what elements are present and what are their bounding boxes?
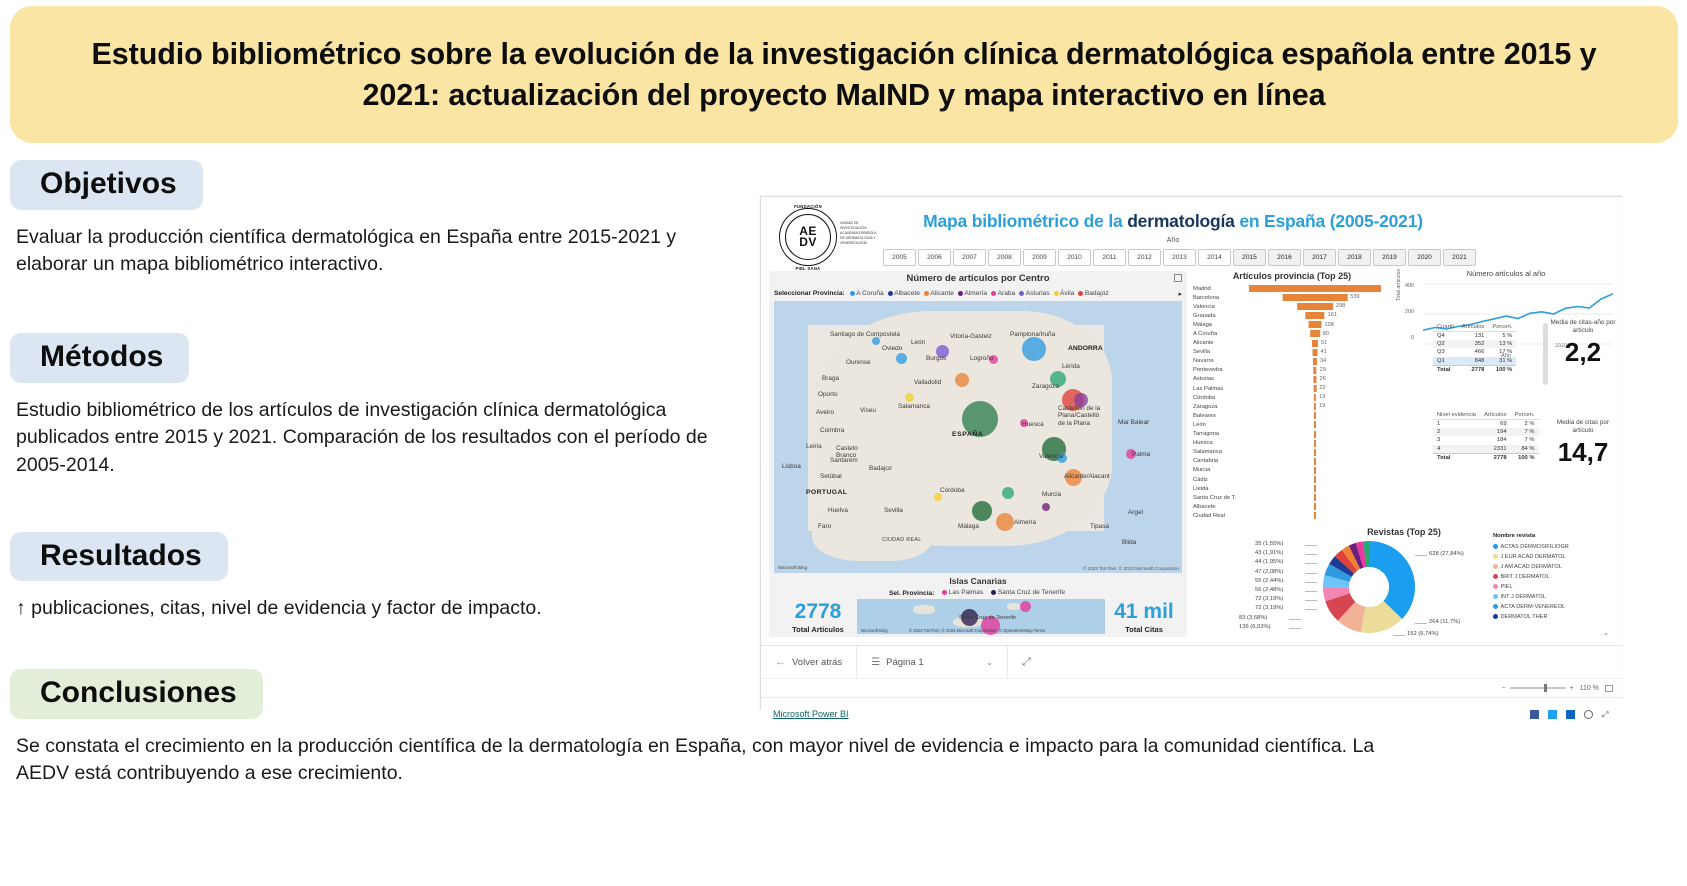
logo-circle-icon: AE DV — [779, 208, 837, 266]
province-bar-value: 19 — [1319, 403, 1325, 409]
line-chart-ylabel: Total artículos — [1396, 269, 1402, 301]
year-button-2007[interactable]: 2007 — [953, 249, 986, 266]
map-city-label: Blida — [1122, 539, 1136, 546]
province-bar[interactable] — [1314, 494, 1316, 501]
canarias-legend[interactable]: Sel. Provincia: Las PalmasSanta Cruz de … — [769, 589, 1187, 597]
province-bar[interactable] — [1283, 294, 1348, 301]
evidence-table-cell: 69 — [1480, 420, 1511, 429]
province-bar[interactable] — [1314, 403, 1316, 410]
year-button-2016[interactable]: 2016 — [1268, 249, 1301, 266]
spain-map[interactable]: Santiago de Compostela Oviedo León Vitor… — [774, 301, 1182, 573]
province-bar-row[interactable]: Asturias26 — [1193, 375, 1391, 384]
quartile-table-row[interactable]: Q235213 % — [1433, 340, 1516, 348]
evidence-table-cell: 4 — [1433, 445, 1480, 454]
province-bar[interactable] — [1314, 394, 1316, 401]
donut-slice-label: 47 (2,08%) — [1255, 569, 1283, 575]
zoom-out-icon[interactable]: − — [1501, 685, 1505, 692]
evidence-table[interactable]: Nivel evidenciaArtículosPorcen. 1692 %21… — [1433, 411, 1545, 462]
map-bubble[interactable] — [934, 493, 942, 501]
year-button-2005[interactable]: 2005 — [883, 249, 916, 266]
kpi-media-citas-year: Media de citas-año por artículo 2,2 — [1547, 319, 1619, 365]
fullscreen-button[interactable]: ⤢ — [1008, 646, 1045, 679]
province-bar-value: 108 — [1324, 322, 1333, 328]
province-bar[interactable] — [1314, 449, 1316, 456]
quartile-table-cell: 5 % — [1488, 332, 1516, 341]
report-title-part2: en España (2005-2021) — [1235, 211, 1423, 231]
canarias-copyright: © 2023 TomTom, © 2023 Microsoft Corporat… — [909, 628, 1045, 633]
map-city-label: Almería — [1014, 519, 1036, 526]
donut-slice-label: 72 (3,19%) — [1255, 605, 1283, 611]
evidence-table-cell: 2331 — [1480, 445, 1511, 454]
quartile-table-header-cell: Porcen. — [1488, 323, 1516, 332]
zoom-in-icon[interactable]: + — [1570, 685, 1574, 692]
province-bar-row[interactable]: Madrid — [1193, 284, 1391, 293]
province-legend-label: Seleccionar Provincia: — [774, 290, 845, 297]
back-button[interactable]: ← Volver atrás — [761, 646, 856, 679]
donut-leader-line — [1289, 619, 1301, 620]
map-city-label: Salamanca — [898, 403, 930, 410]
map-panel: Número de artículos por Centro Seleccion… — [769, 271, 1187, 637]
province-bar-value: 22 — [1319, 385, 1325, 391]
journals-donut-chart[interactable]: Revistas (Top 25) 35 (1,55%)43 (1,91%)44… — [1193, 527, 1615, 639]
province-bar-label: Valencia — [1193, 304, 1239, 310]
province-bar-row[interactable]: Córdoba19 — [1193, 393, 1391, 402]
province-bar[interactable] — [1314, 421, 1316, 428]
province-bar[interactable] — [1313, 358, 1317, 365]
evidence-table-row[interactable]: 4233184 % — [1433, 445, 1539, 454]
map-bubble[interactable] — [905, 393, 914, 402]
page-selector-label: Página 1 — [886, 657, 924, 668]
donut-leader-line — [1393, 635, 1405, 636]
province-bar-row[interactable]: Lleida — [1193, 484, 1391, 493]
province-bar-row[interactable]: Barcelona539 — [1193, 293, 1391, 302]
poster-page: Estudio bibliométrico sobre la evolución… — [0, 0, 1687, 886]
year-button-2011[interactable]: 2011 — [1093, 249, 1126, 266]
province-bar[interactable] — [1314, 431, 1316, 438]
map-copyright: © 2023 TomTom, © 2023 Microsoft Corporat… — [1083, 566, 1179, 571]
province-bar-value: 29 — [1320, 367, 1326, 373]
canarias-bubble[interactable] — [1020, 601, 1031, 612]
year-button-2008[interactable]: 2008 — [988, 249, 1021, 266]
quartile-table-total-cell: 100 % — [1488, 365, 1516, 374]
journal-legend-item[interactable]: BRIT J DERMATOL — [1493, 572, 1615, 582]
province-bar-label: León — [1193, 422, 1239, 428]
map-city-label: Burgos — [926, 355, 946, 362]
legend-item-badajoz[interactable]: Badajoz — [1078, 290, 1108, 297]
map-city-label: Logroño — [970, 355, 993, 362]
province-bar[interactable] — [1312, 340, 1318, 347]
province-bar-label: Huesca — [1193, 440, 1239, 446]
year-button-2009[interactable]: 2009 — [1023, 249, 1056, 266]
donut-slice-label: 44 (1,95%) — [1255, 559, 1283, 565]
canarias-map[interactable]: Santa Cruz de Tenerife Microsoft Bing © … — [857, 599, 1105, 634]
powerbi-brand-link[interactable]: Microsoft Power BI — [773, 709, 849, 719]
province-bar[interactable] — [1313, 349, 1318, 356]
legend-item-label: Ávila — [1060, 290, 1074, 297]
year-button-2018[interactable]: 2018 — [1338, 249, 1371, 266]
left-column: Objetivos Evaluar la producción científi… — [0, 160, 762, 794]
journal-legend-item[interactable]: PIEL — [1493, 582, 1615, 592]
province-legend[interactable]: Seleccionar Provincia: A CoruñaAlbaceteA… — [774, 288, 1182, 299]
year-button-2013[interactable]: 2013 — [1163, 249, 1196, 266]
legend-color-dot — [1493, 614, 1498, 619]
province-bar-row[interactable]: León — [1193, 420, 1391, 429]
donut-leader-line — [1305, 573, 1317, 574]
province-bar[interactable] — [1314, 412, 1316, 419]
kpi-total-citas-value: 41 mil — [1105, 601, 1183, 622]
legend-item-label: Albacete — [894, 290, 920, 297]
legend-color-dot — [991, 590, 996, 595]
line-ytick-0: 0 — [1411, 335, 1414, 341]
donut-leader-line — [1415, 623, 1427, 624]
donut-leader-line — [1415, 555, 1427, 556]
legend-color-dot — [1078, 291, 1083, 296]
province-bar-row[interactable]: Valencia298 — [1193, 302, 1391, 311]
kpi-media-citas-articulo-value: 14,7 — [1547, 439, 1619, 465]
province-bar-label: Málaga — [1193, 322, 1239, 328]
map-city-label: Huelva — [828, 507, 848, 514]
canarias-island — [913, 605, 935, 614]
map-city-label: Vitoria-Gasteiz — [950, 333, 992, 340]
map-bubble[interactable] — [955, 373, 969, 387]
legend-item-label: Almería — [964, 290, 987, 297]
bing-attribution: Microsoft Bing — [778, 565, 807, 570]
province-bar[interactable] — [1310, 330, 1320, 337]
year-button-2021[interactable]: 2021 — [1443, 249, 1476, 266]
legend-color-dot — [991, 291, 996, 296]
province-bar-row[interactable]: Cádiz — [1193, 475, 1391, 484]
canarias-island — [1007, 603, 1021, 610]
map-bubble[interactable] — [1042, 503, 1050, 511]
legend-next-arrow-icon[interactable]: ▸ — [1178, 290, 1182, 298]
quartile-table-row[interactable]: Q41315 % — [1433, 332, 1516, 341]
map-city-label: Lérida — [1062, 363, 1080, 370]
legend-color-dot — [1493, 554, 1498, 559]
journal-legend-item[interactable]: INT J DERMATOL — [1493, 592, 1615, 602]
province-bar-row[interactable]: A Coruña80 — [1193, 329, 1391, 338]
map-city-label: León — [911, 339, 925, 346]
province-bar-label: Murcia — [1193, 467, 1239, 473]
back-arrow-icon: ← — [775, 656, 786, 668]
quartile-table[interactable]: CuartilArtículosPorcen. Q41315 %Q235213 … — [1433, 323, 1541, 374]
focus-mode-icon[interactable] — [1174, 274, 1182, 282]
map-city-label: Faro — [818, 523, 831, 530]
report-title-part1: Mapa bibliométrico de la — [923, 211, 1127, 231]
zoom-slider-track[interactable] — [1510, 687, 1566, 688]
kpi-total-articulos: 2778 Total Artículos — [779, 601, 857, 634]
map-city-label: Oporto — [818, 391, 838, 398]
journal-legend-item[interactable]: J AM ACAD DERMATOL — [1493, 562, 1615, 572]
social-share-group[interactable]: ⤢ — [1530, 710, 1611, 719]
chevron-down-icon[interactable]: ⌄ — [986, 657, 994, 668]
canarias-legend-label: Sel. Provincia: — [889, 590, 934, 597]
journal-legend[interactable]: Nombre revista ACTAS DERMOSIFILIOGRJ EUR… — [1493, 533, 1615, 622]
map-bubble[interactable] — [896, 353, 907, 364]
evidence-table-row[interactable]: 31847 % — [1433, 436, 1539, 444]
year-button-2006[interactable]: 2006 — [918, 249, 951, 266]
evidence-table-row[interactable]: 21947 % — [1433, 428, 1539, 436]
donut-leader-line — [1305, 554, 1317, 555]
pages-icon: ☰ — [871, 657, 880, 668]
journal-legend-label: PIEL — [1501, 584, 1513, 590]
province-bar-label: Santa Cruz de T. — [1193, 495, 1239, 501]
province-bar-row[interactable]: Alicante51 — [1193, 339, 1391, 348]
journal-legend-label: DERMATOL THER — [1501, 614, 1548, 620]
chevron-down-icon[interactable]: ⌄ — [1603, 629, 1609, 637]
legend-color-dot — [1493, 544, 1498, 549]
powerbi-report[interactable]: AE DV FUNDACIÓN PIEL SANA UNIDAD DE INVE… — [760, 196, 1622, 710]
page-selector[interactable]: ☰ Página 1 ⌄ — [857, 646, 1007, 679]
evidence-table-cell: 1 — [1433, 420, 1480, 429]
evidence-table-cell: 3 — [1433, 436, 1480, 444]
section-resultados: Resultados ↑ publicaciones, citas, nivel… — [0, 532, 762, 623]
map-city-label: Valencia — [1039, 453, 1063, 460]
report-footer-bar[interactable]: ← Volver atrás ☰ Página 1 ⌄ ⤢ — [761, 645, 1623, 678]
province-bar-row[interactable]: Tarragona — [1193, 430, 1391, 439]
legend-item-label: Alicante — [930, 290, 953, 297]
province-bar[interactable] — [1313, 367, 1316, 374]
legend-item-alicante[interactable]: Alicante — [924, 290, 954, 297]
journal-legend-label: ACTA DERM-VENEREOL — [1501, 604, 1566, 610]
linkedin-icon[interactable] — [1566, 710, 1575, 719]
province-bar-row[interactable]: Albacete — [1193, 502, 1391, 511]
map-city-label: Setúbal — [820, 473, 842, 480]
province-bar-row[interactable]: Santa Cruz de T. — [1193, 493, 1391, 502]
journal-legend-label: J AM ACAD DERMATOL — [1501, 564, 1562, 570]
province-bar-label: A Coruña — [1193, 331, 1239, 337]
map-bubble[interactable] — [1002, 487, 1014, 499]
map-city-label: Zaragoza — [1032, 383, 1059, 390]
kpi-media-citas-articulo-label: Media de citas por artículo — [1547, 419, 1619, 435]
year-button-2019[interactable]: 2019 — [1373, 249, 1406, 266]
map-bubble[interactable] — [1022, 337, 1046, 361]
section-body-objetivos: Evaluar la producción científica dermato… — [0, 224, 762, 279]
legend-item-ávila[interactable]: Ávila — [1054, 290, 1075, 297]
map-city-label: Lisboa — [782, 463, 801, 470]
province-bar[interactable] — [1314, 476, 1316, 483]
province-bar-row[interactable]: Ciudad Real — [1193, 511, 1391, 520]
legend-color-dot — [1493, 574, 1498, 579]
province-bar-row[interactable]: Huesca — [1193, 439, 1391, 448]
province-bar[interactable] — [1249, 285, 1381, 292]
map-city-label: Córdoba — [940, 487, 965, 494]
report-canvas: AE DV FUNDACIÓN PIEL SANA UNIDAD DE INVE… — [761, 197, 1623, 645]
year-button-2015[interactable]: 2015 — [1233, 249, 1266, 266]
quartile-table-cell: 848 — [1458, 357, 1489, 366]
evidence-table-cell: 184 — [1480, 436, 1511, 444]
province-bar[interactable] — [1314, 512, 1316, 519]
province-bar-row[interactable]: Zaragoza19 — [1193, 402, 1391, 411]
report-title-highlight: dermatología — [1127, 211, 1234, 231]
logo-inner-ring: AE DV — [785, 214, 831, 260]
province-bar[interactable] — [1314, 385, 1317, 392]
province-bar-row[interactable]: Salamanca — [1193, 448, 1391, 457]
section-heading-conclusiones: Conclusiones — [10, 669, 263, 719]
province-bar-label: Sevilla — [1193, 349, 1239, 355]
legend-color-dot — [1493, 604, 1498, 609]
province-bar-row[interactable]: Málaga108 — [1193, 320, 1391, 329]
poster-title-banner: Estudio bibliométrico sobre la evolución… — [10, 6, 1678, 143]
province-bar-chart[interactable]: Artículos provincia (Top 25) MadridBarce… — [1193, 271, 1391, 523]
donut-center-hole — [1349, 567, 1389, 607]
evidence-table-total-cell: 100 % — [1511, 453, 1539, 462]
zoom-slider-knob[interactable] — [1544, 684, 1547, 692]
donut-graphic[interactable] — [1321, 539, 1417, 635]
zoom-bar[interactable]: − + 110 % — [761, 678, 1623, 697]
evidence-table-cell: 2 % — [1511, 420, 1539, 429]
province-bar-label: Granada — [1193, 313, 1239, 319]
legend-item-araba[interactable]: Araba — [991, 290, 1015, 297]
province-bar-label: Las Palmas — [1193, 386, 1239, 392]
donut-slice-label: 72 (3,19%) — [1255, 596, 1283, 602]
province-bar-label: Navarra — [1193, 358, 1239, 364]
donut-slice-label: 83 (3,68%) — [1239, 615, 1267, 621]
map-city-label: Santarém — [830, 457, 858, 464]
province-bar-value: 539 — [1350, 294, 1359, 300]
province-bar-row[interactable]: Granada161 — [1193, 311, 1391, 320]
quartile-table-cell: Q4 — [1433, 332, 1458, 341]
section-conclusiones: Conclusiones Se constata el crecimiento … — [0, 669, 762, 788]
journal-legend-item[interactable]: ACTA DERM-VENEREOL — [1493, 602, 1615, 612]
year-button-2017[interactable]: 2017 — [1303, 249, 1336, 266]
journal-legend-item[interactable]: ACTAS DERMOSIFILIOGR — [1493, 542, 1615, 552]
map-city-label: Santiago de Compostela — [830, 331, 900, 338]
province-bar-value: 80 — [1323, 331, 1329, 337]
province-bar-row[interactable]: Navarra34 — [1193, 357, 1391, 366]
province-bar[interactable] — [1314, 503, 1316, 510]
journal-legend-item[interactable]: DERMATOL THER — [1493, 612, 1615, 622]
province-bar-row[interactable]: Pontevedra29 — [1193, 366, 1391, 375]
province-bar-row[interactable]: Murcia — [1193, 466, 1391, 475]
province-bar-row[interactable]: Cantabria — [1193, 457, 1391, 466]
year-slicer[interactable]: 2005200620072008200920102011201220132014… — [883, 249, 1476, 266]
back-button-label: Volver atrás — [792, 657, 842, 668]
map-country-label: PORTUGAL — [806, 489, 847, 496]
province-bar-row[interactable]: Baleares — [1193, 411, 1391, 420]
quartile-table-cell: 352 — [1458, 340, 1489, 348]
province-bar-row[interactable]: Sevilla41 — [1193, 348, 1391, 357]
section-metodos: Métodos Estudio bibliométrico de los art… — [0, 333, 762, 480]
legend-item-albacete[interactable]: Albacete — [888, 290, 920, 297]
kpi-total-articulos-label: Total Artículos — [779, 625, 857, 634]
map-country-label: ANDORRA — [1068, 345, 1103, 352]
kpi-media-citas-articulo: Media de citas por artículo 14,7 — [1547, 419, 1619, 465]
year-button-2010[interactable]: 2010 — [1058, 249, 1091, 266]
legend-item-label: Asturias — [1026, 290, 1050, 297]
section-objetivos: Objetivos Evaluar la producción científi… — [0, 160, 762, 279]
journal-legend-item[interactable]: J EUR ACAD DERMATOL — [1493, 552, 1615, 562]
map-city-label: Viseu — [860, 407, 876, 414]
journal-legend-label: J EUR ACAD DERMATOL — [1501, 554, 1566, 560]
evidence-table-header-cell: Artículos — [1480, 411, 1511, 420]
fit-to-page-icon[interactable] — [1605, 685, 1613, 692]
zoom-slider[interactable]: − + — [1501, 685, 1573, 692]
province-bar[interactable] — [1305, 312, 1324, 319]
donut-leader-line — [1289, 628, 1301, 629]
evidence-table-header-cell: Porcen. — [1511, 411, 1539, 420]
province-bar[interactable] — [1313, 376, 1316, 383]
province-bar[interactable] — [1314, 440, 1316, 447]
map-city-label: Pamplona/Iruña — [1010, 331, 1055, 338]
map-sea-west — [774, 301, 808, 573]
year-button-2020[interactable]: 2020 — [1408, 249, 1441, 266]
province-bar-label: Madrid — [1193, 286, 1239, 292]
legend-color-dot — [1054, 291, 1059, 296]
quartile-table-cell: Q1 — [1433, 357, 1458, 366]
donut-slice-label: 35 (1,55%) — [1255, 541, 1283, 547]
expand-icon[interactable]: ⤢ — [1602, 710, 1611, 719]
province-bar[interactable] — [1314, 458, 1316, 465]
donut-slice-label: 628 (27,84%) — [1429, 551, 1464, 557]
quartile-table-total-row: Total2778100 % — [1433, 365, 1516, 374]
quartile-table-row[interactable]: Q346617 % — [1433, 348, 1516, 356]
quartile-table-row[interactable]: Q184831 % — [1433, 357, 1516, 366]
province-bar-value: 19 — [1319, 394, 1325, 400]
journal-legend-label: INT J DERMATOL — [1501, 594, 1546, 600]
map-city-label: Ourense — [846, 359, 871, 366]
link-icon[interactable] — [1584, 710, 1593, 719]
journal-legend-label: ACTAS DERMOSIFILIOGR — [1501, 544, 1569, 550]
map-bubble[interactable] — [872, 337, 880, 345]
donut-leader-line — [1305, 545, 1317, 546]
legend-color-dot — [942, 590, 947, 595]
province-bar-label: Albacete — [1193, 504, 1239, 510]
map-city-label: Murcia — [1042, 491, 1061, 498]
province-bar-value: 161 — [1328, 312, 1337, 318]
province-bar-value: 34 — [1320, 358, 1326, 364]
canarias-legend-item-label: Santa Cruz de Tenerife — [998, 589, 1065, 596]
province-bar-label: Lleida — [1193, 486, 1239, 492]
legend-color-dot — [888, 291, 893, 296]
province-bar[interactable] — [1297, 303, 1333, 310]
province-chart-title: Artículos provincia (Top 25) — [1193, 271, 1391, 281]
legend-item-a-coruña[interactable]: A Coruña — [850, 290, 884, 297]
province-bar[interactable] — [1314, 467, 1316, 474]
map-city-label: Huesca — [1022, 421, 1044, 428]
donut-slice-label: 56 (2,48%) — [1255, 587, 1283, 593]
year-button-2012[interactable]: 2012 — [1128, 249, 1161, 266]
year-button-2014[interactable]: 2014 — [1198, 249, 1231, 266]
legend-item-label: A Coruña — [856, 290, 884, 297]
evidence-table-total-row: Total2778100 % — [1433, 453, 1539, 462]
province-bar-value: 26 — [1320, 376, 1326, 382]
evidence-table-row[interactable]: 1692 % — [1433, 420, 1539, 429]
legend-item-almería[interactable]: Almería — [958, 290, 987, 297]
line-chart-title: Número artículos al año — [1397, 269, 1615, 278]
facebook-icon[interactable] — [1530, 710, 1539, 719]
fullscreen-icon: ⤢ — [1022, 656, 1031, 669]
kpi-media-citas-year-label: Media de citas-año por artículo — [1547, 319, 1619, 335]
map-city-label: Aveiro — [816, 409, 834, 416]
quartile-table-header-cell: Artículos — [1458, 323, 1489, 332]
twitter-icon[interactable] — [1548, 710, 1557, 719]
canarias-legend-item-santa-cruz-de-tenerife[interactable]: Santa Cruz de Tenerife — [991, 589, 1065, 596]
evidence-table-cell: 194 — [1480, 428, 1511, 436]
province-bar-value: 41 — [1320, 349, 1326, 355]
quartile-table-cell: 31 % — [1488, 357, 1516, 366]
province-bar[interactable] — [1314, 485, 1316, 492]
map-bubble[interactable] — [972, 501, 992, 521]
province-bar-row[interactable]: Las Palmas22 — [1193, 384, 1391, 393]
legend-item-asturias[interactable]: Asturias — [1019, 290, 1049, 297]
kpi-total-citas-label: Total Citas — [1105, 625, 1183, 634]
map-bubble[interactable] — [996, 513, 1014, 531]
canarias-legend-item-las-palmas[interactable]: Las Palmas — [942, 589, 983, 596]
evidence-table-cell: 2 — [1433, 428, 1480, 436]
province-bar-value: 51 — [1321, 340, 1327, 346]
legend-color-dot — [1493, 584, 1498, 589]
province-bar[interactable] — [1309, 321, 1322, 328]
